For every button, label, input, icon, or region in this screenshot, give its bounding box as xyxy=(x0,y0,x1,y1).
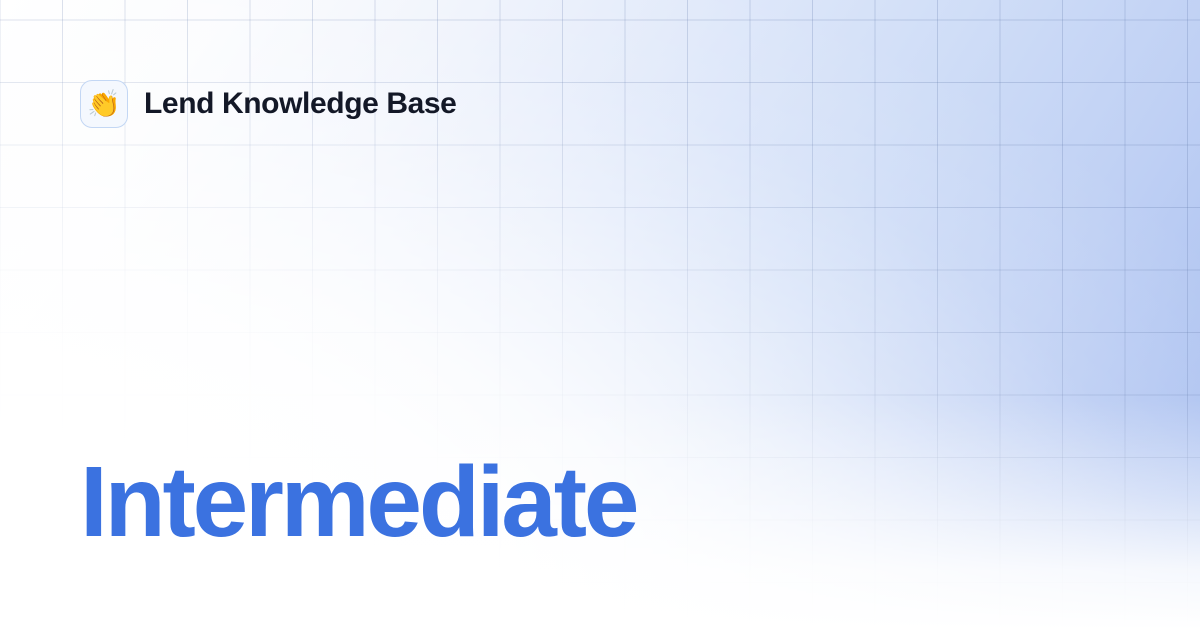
site-header: 👏 Lend Knowledge Base xyxy=(80,80,456,128)
site-title: Lend Knowledge Base xyxy=(144,87,456,121)
clapping-hands-glyph: 👏 xyxy=(87,91,121,118)
og-banner-card: 👏 Lend Knowledge Base Intermediate xyxy=(0,0,1200,630)
clapping-hands-icon: 👏 xyxy=(80,80,128,128)
page-title: Intermediate xyxy=(80,452,636,552)
